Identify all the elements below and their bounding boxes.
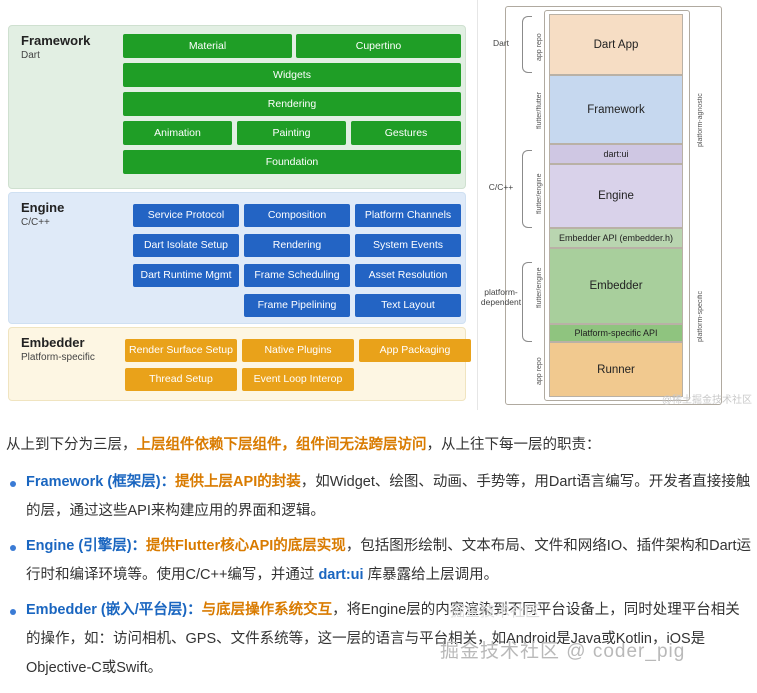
item-lead-engine: 提供Flutter核心API的底层实现 bbox=[146, 538, 346, 554]
cell-frame-pipelining: Frame Pipelining bbox=[244, 294, 350, 317]
item-sep-1: ： bbox=[132, 538, 147, 554]
stack-box-embedder: Embedder bbox=[549, 248, 683, 324]
cell-widgets: Widgets bbox=[123, 63, 461, 87]
intro-suffix: ，从上往下每一层的职责： bbox=[427, 437, 601, 453]
cell-cupertino: Cupertino bbox=[296, 34, 461, 58]
embedder-layer: Embedder Platform-specific Render Surfac… bbox=[8, 327, 466, 401]
cell-service-protocol: Service Protocol bbox=[133, 204, 239, 227]
cell-text-layout: Text Layout bbox=[355, 294, 461, 317]
framework-layer-subtitle: Dart bbox=[21, 50, 40, 61]
item-title-framework: Framework (框架层) bbox=[26, 474, 161, 490]
framework-layer: Framework Dart Material Cupertino Widget… bbox=[8, 25, 466, 189]
embedder-layer-subtitle: Platform-specific bbox=[21, 352, 95, 363]
cell-asset-resolution: Asset Resolution bbox=[355, 264, 461, 287]
item-sep-2: ： bbox=[187, 602, 202, 618]
cell-dart-runtime-mgmt: Dart Runtime Mgmt bbox=[133, 264, 239, 287]
cell-animation: Animation bbox=[123, 121, 232, 145]
brace-cpp bbox=[522, 150, 532, 228]
stack-vlabel-platform-specific: platform-specific bbox=[697, 262, 704, 372]
cell-native-plugins: Native Plugins bbox=[242, 339, 354, 362]
right-diagram-watermark: @稀土掘金技术社区 bbox=[662, 391, 752, 406]
embedder-layer-title: Embedder bbox=[21, 336, 85, 350]
list-item: Framework (框架层)：提供上层API的封装，如Widget、绘图、动画… bbox=[6, 468, 751, 526]
item-lead-embedder: 与底层操作系统交互 bbox=[202, 602, 333, 618]
brace-dart bbox=[522, 16, 532, 73]
cell-thread-setup: Thread Setup bbox=[125, 368, 237, 391]
stack-label-cpp: C/C++ bbox=[480, 182, 522, 192]
intro-highlight: 上层组件依赖下层组件，组件间无法跨层访问 bbox=[137, 437, 427, 453]
cell-platform-channels: Platform Channels bbox=[355, 204, 461, 227]
stack-vlabel-flutter-engine-2: flutter/engine bbox=[536, 258, 543, 318]
cell-render-surface-setup: Render Surface Setup bbox=[125, 339, 237, 362]
stack-vlabel-flutter-flutter: flutter/flutter bbox=[536, 82, 543, 140]
intro-paragraph: 从上到下分为三层，上层组件依赖下层组件，组件间无法跨层访问，从上往下每一层的职责… bbox=[6, 418, 751, 464]
cell-dart-isolate-setup: Dart Isolate Setup bbox=[133, 234, 239, 257]
item-sep-0: ： bbox=[161, 474, 176, 490]
list-item: Engine (引擎层)：提供Flutter核心API的底层实现，包括图形绘制、… bbox=[6, 532, 751, 590]
engine-layer-title: Engine bbox=[21, 201, 64, 215]
cell-foundation: Foundation bbox=[123, 150, 461, 174]
cell-frame-scheduling: Frame Scheduling bbox=[244, 264, 350, 287]
cell-rendering: Rendering bbox=[123, 92, 461, 116]
stack-box-runner: Runner bbox=[549, 342, 683, 397]
stack-label-dart: Dart bbox=[480, 38, 522, 48]
watermark-middle: 掘金技术社区 bbox=[450, 600, 540, 621]
cell-composition: Composition bbox=[244, 204, 350, 227]
cell-material: Material bbox=[123, 34, 292, 58]
watermark-bottom: 掘金技术社区 @ coder_pig bbox=[440, 636, 685, 663]
intro-prefix: 从上到下分为三层， bbox=[6, 437, 137, 453]
cell-app-packaging: App Packaging bbox=[359, 339, 471, 362]
stack-box-engine: Engine bbox=[549, 164, 683, 228]
stack-box-embedder-api: Embedder API (embedder.h) bbox=[549, 228, 683, 248]
cell-rendering-engine: Rendering bbox=[244, 234, 350, 257]
cell-system-events: System Events bbox=[355, 234, 461, 257]
cell-gestures: Gestures bbox=[351, 121, 461, 145]
item-title-engine: Engine (引擎层) bbox=[26, 538, 132, 554]
stack-vlabel-flutter-engine-1: flutter/engine bbox=[536, 164, 543, 224]
item-title-embedder: Embedder (嵌入/平台层) bbox=[26, 602, 187, 618]
flutter-stack-diagram: Dart App Framework dart:ui Engine Embedd… bbox=[477, 0, 757, 410]
stack-vlabel-platform-agnostic: platform-agnostic bbox=[697, 60, 704, 180]
stack-vlabel-app-repo-bottom: app repo bbox=[536, 352, 543, 390]
item-code-dartui: dart:ui bbox=[318, 567, 363, 583]
cell-painting: Painting bbox=[237, 121, 346, 145]
stack-label-platform-dependent: platform- dependent bbox=[478, 287, 524, 307]
stack-box-framework: Framework bbox=[549, 75, 683, 144]
engine-layer: Engine C/C++ Service Protocol Compositio… bbox=[8, 192, 466, 324]
stack-vlabel-app-repo-top: app repo bbox=[536, 26, 543, 68]
stack-box-platform-specific-api: Platform-specific API bbox=[549, 324, 683, 342]
stack-box-dart-app: Dart App bbox=[549, 14, 683, 75]
framework-layer-title: Framework bbox=[21, 34, 90, 48]
cell-event-loop-interop: Event Loop Interop bbox=[242, 368, 354, 391]
item-lead-framework: 提供上层API的封装 bbox=[175, 474, 301, 490]
stack-box-dart-ui: dart:ui bbox=[549, 144, 683, 164]
engine-layer-subtitle: C/C++ bbox=[21, 217, 50, 228]
item-body2-engine: 库暴露给上层调用。 bbox=[364, 567, 499, 583]
flutter-architecture-layers-diagram: Framework Dart Material Cupertino Widget… bbox=[0, 0, 474, 410]
